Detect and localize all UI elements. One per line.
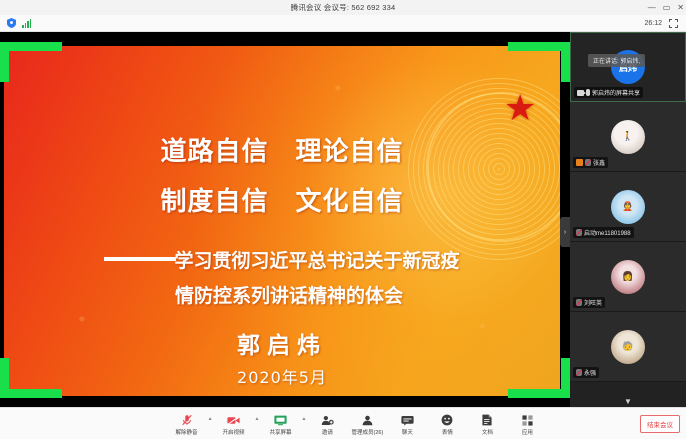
toolbar-label: 共享屏幕	[269, 428, 291, 436]
share-border-corner-bottom-left-h	[0, 389, 62, 398]
participant-tile[interactable]: 启炜 郭启炜的屏幕共享	[570, 32, 686, 102]
chevron-down-icon[interactable]: ▼	[570, 395, 686, 407]
speaking-indicator: 正在讲话: 郭启炜,	[588, 54, 645, 67]
share-border-corner-bottom-right-v	[561, 358, 570, 398]
toolbar-button-emoji[interactable]: 表情	[427, 411, 467, 436]
title-bar: 腾讯会议 会议号: 562 692 334 — ▭ ✕	[0, 0, 686, 15]
share-border-corner-bottom-left-v	[0, 358, 9, 398]
toolbar-button-manage-members[interactable]: 管理成员(26)	[347, 411, 387, 436]
tencent-meeting-window: 腾讯会议 会议号: 562 692 334 — ▭ ✕ 26:12	[0, 0, 686, 439]
avatar: 🚶	[611, 120, 645, 154]
toolbar-items: 解除静音 ▲ 开启视频 ▲	[139, 411, 548, 436]
slide-subtitle-line-2: 情防控系列讲话精神的体会	[4, 281, 560, 308]
participant-name: 启动me11801988	[584, 228, 631, 237]
mic-icon	[586, 89, 590, 96]
presentation-slide: 道路自信 理论自信 制度自信 文化自信 学习贯彻习近平总书记关于新冠疫 情防控系…	[4, 46, 560, 396]
fullscreen-icon[interactable]	[669, 19, 678, 28]
minimize-icon[interactable]: —	[648, 4, 656, 12]
chevron-up-icon[interactable]: ▲	[254, 416, 261, 422]
signal-strength-icon[interactable]	[22, 19, 31, 28]
participant-namebar: 刘旺英	[573, 297, 605, 308]
close-icon[interactable]: ✕	[677, 4, 684, 12]
participant-namebar: 张鑫	[573, 157, 608, 168]
slide-date: 2020年5月	[4, 364, 560, 388]
slide-headline-2: 制度自信 文化自信	[4, 181, 560, 218]
mic-muted-icon	[576, 299, 582, 306]
screen-share-icon	[274, 413, 287, 427]
participant-tile[interactable]: 👲 启动me11801988	[570, 172, 686, 242]
slide-author: 郭启炜	[4, 326, 560, 360]
toolbar-button-document[interactable]: 文档	[467, 411, 507, 436]
toolbar-button-invite[interactable]: 邀请	[307, 411, 347, 436]
avatar: 👩	[611, 260, 645, 294]
mic-muted-icon	[181, 413, 193, 427]
participant-tile[interactable]: 🚶 张鑫	[570, 102, 686, 172]
meeting-toolbar: 解除静音 ▲ 开启视频 ▲	[0, 407, 686, 439]
toolbar-button-start-video[interactable]: 开启视频	[214, 411, 254, 436]
avatar: 👲	[611, 190, 645, 224]
info-bar-right: 26:12	[644, 19, 682, 28]
toolbar-button-chat[interactable]: 聊天	[387, 411, 427, 436]
shared-screen-stage[interactable]: 道路自信 理论自信 制度自信 文化自信 学习贯彻习近平总书记关于新冠疫 情防控系…	[0, 32, 570, 407]
chat-icon	[401, 413, 414, 427]
toolbar-button-unmute[interactable]: 解除静音	[167, 411, 207, 436]
toolbar-label: 开启视频	[223, 428, 245, 436]
participant-name: 张鑫	[593, 158, 605, 167]
meeting-info-bar: 26:12	[0, 15, 686, 32]
participant-name: 郭启炜的屏幕共享	[592, 88, 640, 97]
rail-collapse-handle[interactable]: ›	[560, 217, 570, 247]
video-off-icon	[227, 413, 240, 427]
mic-muted-icon	[576, 369, 582, 376]
participant-tile[interactable]: 🧓 永强	[570, 312, 686, 382]
participant-namebar: 启动me11801988	[573, 227, 634, 238]
participant-name: 永强	[584, 368, 596, 377]
toolbar-label: 邀请	[322, 428, 333, 436]
window-controls: — ▭ ✕	[648, 0, 684, 15]
shield-icon[interactable]	[7, 18, 16, 28]
chevron-up-icon[interactable]: ▲	[207, 416, 214, 422]
share-border-corner-top-left-v	[0, 42, 9, 82]
slide-subtitle-line-1-wrap: 学习贯彻习近平总书记关于新冠疫	[4, 246, 560, 273]
meeting-timer: 26:12	[644, 20, 662, 27]
toolbar-label: 聊天	[402, 428, 413, 436]
toolbar-button-share-screen[interactable]: 共享屏幕	[260, 411, 300, 436]
apps-icon	[522, 413, 533, 427]
avatar: 🧓	[611, 330, 645, 364]
share-border-corner-top-left-h	[0, 42, 62, 51]
participant-namebar: 郭启炜的屏幕共享	[574, 87, 643, 98]
toolbar-label: 表情	[442, 428, 453, 436]
maximize-icon[interactable]: ▭	[663, 4, 671, 12]
share-border-corner-top-right-v	[561, 42, 570, 82]
slide-headline-1: 道路自信 理论自信	[4, 131, 560, 168]
toolbar-button-apps[interactable]: 应用	[507, 411, 547, 436]
slide-subtitle-line-1: 学习贯彻习近平总书记关于新冠疫	[174, 250, 459, 272]
hand-raised-icon	[576, 159, 583, 166]
camera-icon	[577, 90, 584, 96]
mic-muted-icon	[576, 229, 582, 236]
window-title: 腾讯会议 会议号: 562 692 334	[291, 2, 396, 13]
invite-icon	[321, 413, 334, 427]
document-icon	[482, 413, 492, 427]
emoji-icon	[441, 413, 453, 427]
participant-rail[interactable]: 正在讲话: 郭启炜, 启炜 郭启炜的屏幕共享 🚶 张鑫 👲 启动me118019…	[570, 32, 686, 407]
end-meeting-button[interactable]: 结束会议	[640, 415, 680, 433]
toolbar-label: 应用	[522, 428, 533, 436]
toolbar-label: 解除静音	[176, 428, 198, 436]
toolbar-label: 管理成员(26)	[352, 428, 384, 436]
chevron-up-icon[interactable]: ▲	[300, 416, 307, 422]
toolbar-label: 文档	[482, 428, 493, 436]
participant-tile[interactable]: 👩 刘旺英	[570, 242, 686, 312]
slide-content: 道路自信 理论自信 制度自信 文化自信 学习贯彻习近平总书记关于新冠疫 情防控系…	[4, 46, 560, 396]
participant-namebar: 永强	[573, 367, 599, 378]
participant-name: 刘旺英	[584, 298, 602, 307]
em-dash-rule	[104, 257, 176, 261]
members-icon	[361, 413, 374, 427]
mic-muted-icon	[585, 159, 591, 166]
slide-subtitle-block: 学习贯彻习近平总书记关于新冠疫 情防控系列讲话精神的体会	[4, 246, 560, 308]
